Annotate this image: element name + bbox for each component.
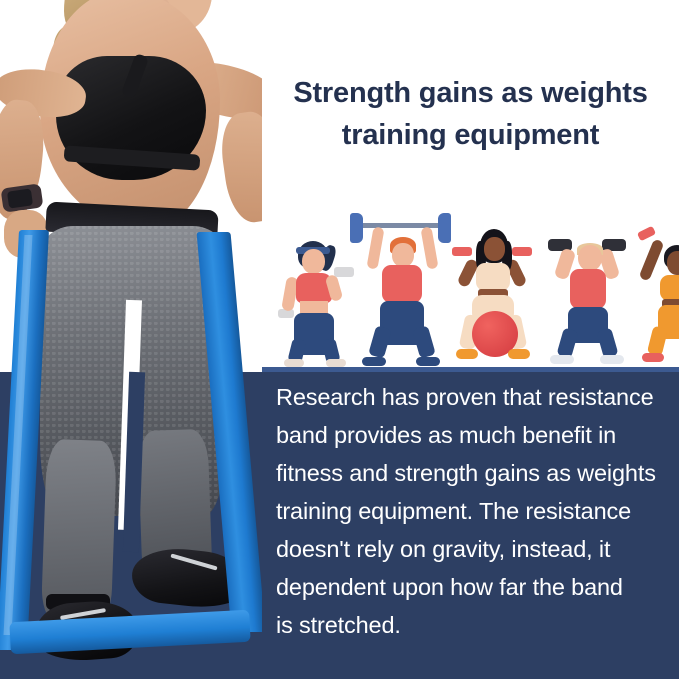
figure4-face [578,245,602,271]
figure-man-barbell-press [358,219,444,367]
figure3-sports-bra [476,263,510,291]
body-line-2: band provides as much benefit in [276,416,676,454]
figure2-left-arm [366,226,384,269]
figure3-right-shoe [508,349,530,359]
figure2-right-arm [420,226,438,269]
exercise-illustration-strip [262,212,679,372]
figure2-left-leg [368,325,392,358]
figure1-left-shoe [284,359,304,367]
product-marketing-image: Strength gains as weights training equip… [0,0,679,679]
body-line-3: fitness and strength gains as weights [276,454,676,492]
figure4-tank-top [570,269,606,309]
headline-line-2: training equipment [274,114,667,156]
figure3-dumbbell-right-icon [512,247,532,256]
body-line-1: Research has proven that resistance [276,378,676,416]
barbell-plate-left-icon [350,213,363,243]
figure4-left-shoe [550,355,574,364]
barbell-bar-icon [356,223,448,228]
headline-line-1: Strength gains as weights [274,72,667,114]
figure-woman-overhead-raise [632,231,679,367]
figure3-left-shoe [456,349,478,359]
model-right-forearm [217,109,262,226]
figure5-left-shoe [642,353,664,362]
figure5-dumbbell-left-icon [637,226,656,242]
description-panel: Research has proven that resistance band… [262,372,679,679]
figure2-left-shoe [362,357,386,366]
figure4-right-leg [596,327,618,358]
body-line-5: doesn't rely on gravity, instead, it [276,530,676,568]
figure5-left-leg [647,326,668,357]
figure2-tank-top [382,265,422,303]
smartwatch-face [7,188,33,208]
figure2-right-leg [412,325,436,358]
product-photo [0,0,262,679]
figure5-face [667,251,679,275]
figure-man-shoulder-press [544,235,630,367]
body-line-6: dependent upon how far the band [276,568,676,606]
body-line-4: training equipment. The resistance [276,492,676,530]
figure2-face [392,243,414,267]
figure3-face [484,237,505,261]
figure5-left-arm [639,238,665,281]
figure-woman-dumbbells [276,239,354,367]
figure3-dumbbell-left-icon [452,247,472,256]
figure4-left-leg [556,327,578,358]
figure1-face [302,249,325,274]
figure4-right-shoe [600,355,624,364]
figure2-right-shoe [416,357,440,366]
figure5-sports-bra [660,275,679,301]
description-text: Research has proven that resistance band… [276,378,676,644]
figure-woman-exercise-ball [446,227,538,367]
body-line-7: is stretched. [276,606,676,644]
figure1-right-shoe [326,359,346,367]
page-title: Strength gains as weights training equip… [262,72,679,156]
dumbbell-icon-right [334,267,354,277]
